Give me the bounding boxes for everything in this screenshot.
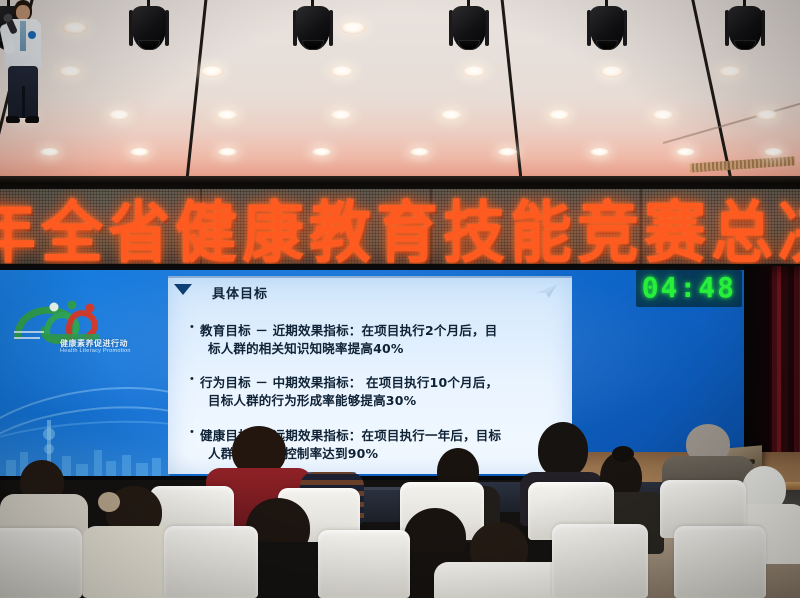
ceiling-downlight (340, 22, 366, 34)
paper-plane-icon (536, 283, 558, 299)
ceiling-downlight (718, 66, 742, 77)
slide-heading: 具体目标 (212, 283, 268, 302)
stage-spotlight (590, 0, 624, 58)
stage-spotlight (452, 0, 486, 58)
bullet-line-2: 目标人群的行为形成率能够提高30% (200, 392, 556, 410)
bullet-line-2: 标人群的相关知识知晓率提高40% (200, 340, 556, 358)
slide-bullet: 行为目标 － 中期效果指标： 在项目执行10个月后， 目标人群的行为形成率能够提… (190, 374, 556, 410)
logo-title-en: Health Literacy Promotion (60, 348, 131, 354)
ceiling-downlight (600, 66, 624, 77)
ceiling-downlight (440, 110, 462, 120)
chair (318, 530, 410, 598)
ceiling-downlight (130, 148, 149, 156)
ceiling-downlight (330, 110, 352, 120)
ceiling-downlight (40, 148, 59, 156)
ceiling-downlight (200, 66, 224, 77)
hair-bun (612, 446, 634, 462)
ceiling-downlight (330, 66, 354, 77)
ceiling-downlight (498, 148, 517, 156)
slide-divider (168, 276, 572, 278)
ceiling-downlight (652, 110, 674, 120)
audience-area: 门市 (0, 430, 800, 598)
health-literacy-promotion-logo: 健康素养促进行动 Health Literacy Promotion (14, 298, 134, 360)
stage-spotlight (296, 0, 330, 58)
countdown-timer: 04:48 (636, 270, 742, 307)
ceiling-downlight (410, 148, 429, 156)
triangle-marker-icon (174, 284, 192, 295)
chair (0, 528, 82, 598)
ceiling-downlight (764, 148, 783, 156)
presenter-shoe (25, 116, 39, 123)
hair-tie (98, 492, 120, 512)
stage-spotlight (132, 0, 166, 58)
ceiling (0, 0, 800, 188)
ceiling-downlight (548, 110, 570, 120)
auditorium-photo: 年全省健康教育技能竞赛总决赛 (0, 0, 800, 598)
led-banner: 年全省健康教育技能竞赛总决赛 (0, 186, 800, 268)
ceiling-downlight (58, 66, 82, 77)
chair (164, 526, 258, 598)
slide-bullet: 教育目标 － 近期效果指标：在项目执行2个月后，目 标人群的相关知识知晓率提高4… (190, 322, 556, 358)
presenter-shoe (6, 116, 20, 123)
presenter-leg-gap (22, 86, 25, 118)
bullet-line-1: 行为目标 － 中期效果指标： 在项目执行10个月后， (200, 374, 556, 392)
ceiling-downlight (756, 110, 778, 120)
ceiling-downlight (108, 110, 130, 120)
ceiling-seam (181, 0, 208, 188)
presenter-tie (20, 21, 26, 51)
ceiling-downlight (312, 148, 331, 156)
chair (674, 526, 766, 598)
chair (552, 524, 648, 598)
ceiling-downlight (676, 148, 695, 156)
audience-head (538, 422, 588, 478)
ceiling-seam (663, 98, 800, 144)
presenter-face (16, 5, 30, 20)
ceiling-seam (500, 0, 527, 188)
ceiling-downlight (218, 148, 237, 156)
led-banner-text: 年全省健康教育技能竞赛总决赛 (0, 186, 800, 268)
ceiling-vent (690, 156, 795, 172)
ceiling-downlight (62, 22, 88, 34)
ceiling-downlight (216, 110, 238, 120)
ceiling-downlight (590, 148, 609, 156)
stage-spotlight (728, 0, 762, 58)
ceiling-downlight (462, 66, 486, 77)
bullet-line-1: 教育目标 － 近期效果指标：在项目执行2个月后，目 (200, 322, 556, 340)
presenter-badge (27, 30, 37, 40)
